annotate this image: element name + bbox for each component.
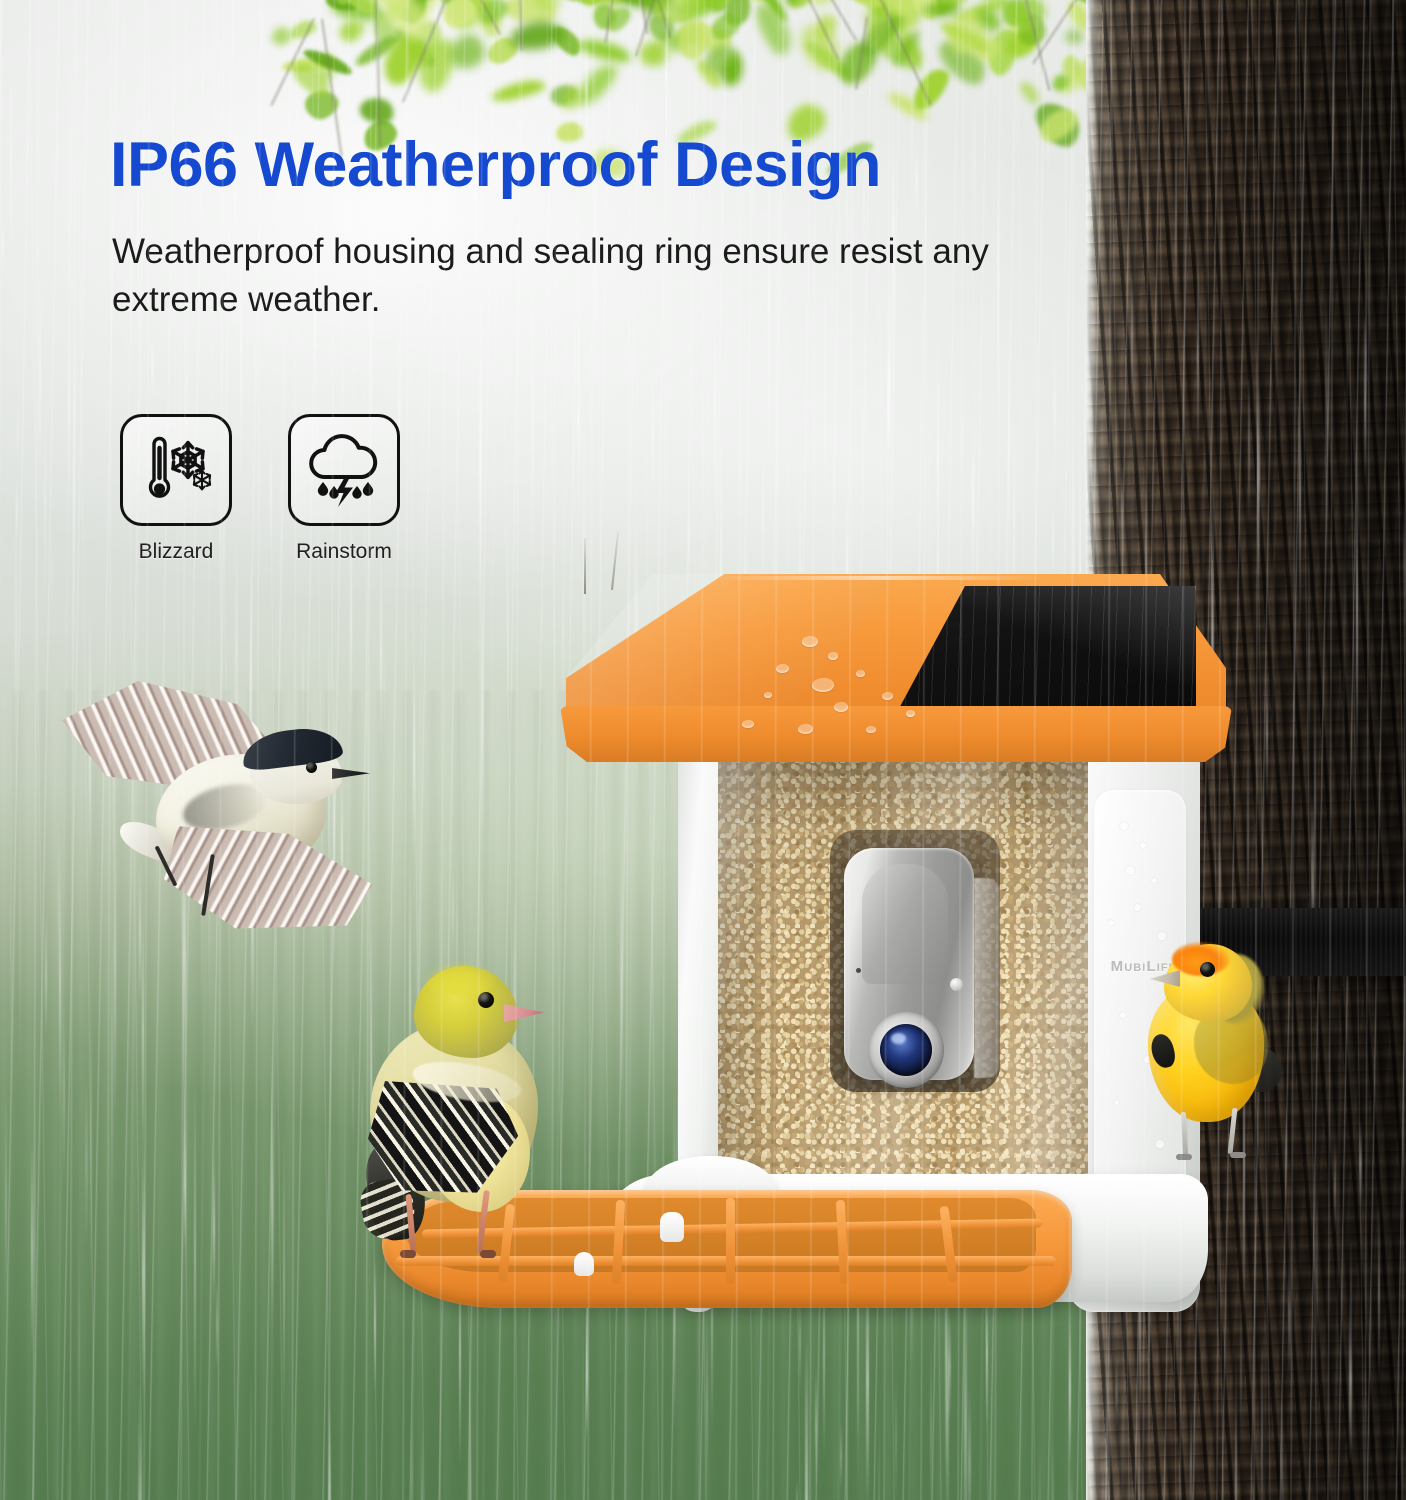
rain-streak xyxy=(17,402,19,469)
nuthatch-beak xyxy=(332,768,370,779)
rain-streak xyxy=(1308,533,1310,779)
rain-streak xyxy=(185,1033,187,1289)
page-title: IP66 Weatherproof Design xyxy=(110,132,881,198)
rain-streak xyxy=(915,146,918,217)
water-droplet xyxy=(798,724,813,734)
rain-streak xyxy=(1299,345,1301,646)
water-droplet xyxy=(828,652,838,660)
leaf xyxy=(509,20,565,51)
rain-streak xyxy=(796,1478,798,1500)
rain-streak xyxy=(706,1309,708,1500)
water-droplet xyxy=(742,720,754,728)
rain-streak xyxy=(652,373,654,497)
rain-streak xyxy=(1008,330,1010,566)
rain-streak xyxy=(1356,434,1358,780)
rain-streak xyxy=(1266,665,1268,804)
leaf xyxy=(751,0,796,59)
camera-sensor-icon xyxy=(950,978,963,991)
water-droplet xyxy=(866,726,876,733)
rain-streak xyxy=(1248,367,1250,524)
page-subtitle: Weatherproof housing and sealing ring en… xyxy=(112,228,1072,323)
camera-side-reflection xyxy=(974,878,1000,1078)
water-droplet xyxy=(856,670,865,677)
rain-streak xyxy=(961,408,964,486)
rain-streak xyxy=(19,758,21,1081)
rain-streak xyxy=(1038,1435,1041,1500)
rain-streak xyxy=(1288,1248,1291,1379)
rain-streak xyxy=(1314,661,1316,938)
rain-streak xyxy=(68,302,70,508)
rain-streak xyxy=(930,1345,932,1500)
rain-streak xyxy=(1047,104,1049,178)
canary-eye xyxy=(1200,962,1215,977)
water-droplet xyxy=(812,678,834,692)
thermometer-snowflake-icon xyxy=(136,430,216,510)
feature-badge-blizzard: Blizzard xyxy=(120,414,232,564)
rain-streak xyxy=(1325,273,1328,570)
goldfinch-yellow-crown xyxy=(424,962,496,996)
rain-streak xyxy=(582,1290,584,1500)
rain-streak xyxy=(328,1398,331,1500)
leaf xyxy=(1017,79,1042,108)
rain-streak xyxy=(63,1002,65,1184)
rain-streak xyxy=(1261,1340,1263,1500)
badge-frame-rainstorm xyxy=(288,414,400,526)
canary-foot xyxy=(1230,1152,1246,1158)
rain-streak xyxy=(374,1254,376,1394)
rain-streak xyxy=(140,1427,142,1500)
rain-streak xyxy=(51,525,53,621)
rain-streak xyxy=(57,815,59,992)
rain-streak xyxy=(887,352,890,452)
camera-visor xyxy=(862,864,948,984)
rain-streak xyxy=(469,1352,471,1500)
rain-streak xyxy=(67,1422,69,1500)
rain-streak xyxy=(1053,313,1056,500)
rain-streak xyxy=(1138,1385,1140,1500)
rain-streak xyxy=(85,1075,88,1249)
water-droplet xyxy=(834,702,848,712)
rain-streak xyxy=(651,1491,653,1500)
water-droplet xyxy=(906,710,915,717)
water-droplet xyxy=(1108,920,1114,926)
rain-streak xyxy=(1334,1138,1336,1232)
rain-streak xyxy=(1240,1292,1242,1448)
goldfinch-foot xyxy=(480,1250,496,1258)
camera-lens-icon xyxy=(880,1024,932,1076)
rain-streak xyxy=(1315,1119,1318,1448)
feeder-roof xyxy=(566,574,1226,774)
rain-streak xyxy=(1131,269,1133,407)
rain-streak xyxy=(577,387,579,453)
water-droplet xyxy=(776,664,789,673)
rain-streak xyxy=(1257,381,1260,578)
rain-streak xyxy=(213,1153,215,1302)
rain-streak xyxy=(1235,1353,1237,1500)
rain-streak xyxy=(90,993,92,1300)
roof-eave xyxy=(560,706,1232,762)
roof-ridge-highlight xyxy=(716,576,1046,580)
rain-streak xyxy=(15,475,17,805)
water-droplet xyxy=(1120,822,1128,830)
rain-streak xyxy=(10,804,12,1115)
rain-streak xyxy=(1364,314,1366,485)
rain-streak xyxy=(725,316,727,386)
bird-american-goldfinch xyxy=(352,944,582,1264)
rain-streak xyxy=(421,1425,423,1500)
feature-badge-rainstorm: Rainstorm xyxy=(288,414,400,564)
feature-badge-label-blizzard: Blizzard xyxy=(139,540,214,564)
water-droplet xyxy=(1140,842,1146,848)
water-droplet xyxy=(1134,904,1141,911)
rain-streak xyxy=(34,1079,36,1406)
rain-streak xyxy=(1153,1486,1155,1500)
rain-streak xyxy=(1281,1393,1283,1500)
rain-streak xyxy=(5,1091,7,1318)
rain-streak xyxy=(142,1141,145,1402)
water-droplet xyxy=(882,692,893,700)
nuthatch-eye xyxy=(306,762,317,773)
rain-streak xyxy=(151,333,154,400)
canary-foot xyxy=(1176,1154,1192,1160)
lightning-bolt-shape xyxy=(336,475,354,507)
tray-center-nub xyxy=(660,1212,684,1242)
rain-streak xyxy=(973,78,976,250)
cloud-rain-lightning-icon xyxy=(303,431,385,509)
rain-streak xyxy=(111,889,113,1235)
rain-streak xyxy=(1069,1312,1071,1465)
rain-streak xyxy=(1115,1355,1118,1434)
rain-streak xyxy=(45,914,47,1036)
water-droplet xyxy=(1120,1012,1126,1018)
product-marketing-image: IP66 Weatherproof Design Weatherproof ho… xyxy=(0,0,1406,1500)
camera-microphone-icon xyxy=(856,968,861,973)
rain-streak xyxy=(968,1385,971,1500)
leaf xyxy=(272,27,291,45)
rain-streak xyxy=(805,1331,808,1500)
nuthatch-lower-wing xyxy=(159,821,381,947)
rain-streak xyxy=(1052,1439,1054,1500)
rain-streak xyxy=(10,54,12,261)
rain-streak xyxy=(714,290,716,525)
rain-streak xyxy=(1378,1200,1380,1387)
rain-streak xyxy=(216,1280,218,1370)
rain-streak xyxy=(31,1139,33,1354)
water-droplet xyxy=(1126,866,1135,875)
rain-streak xyxy=(39,266,41,481)
rain-streak xyxy=(840,1421,842,1490)
goldfinch-foot xyxy=(400,1250,416,1258)
rain-streak xyxy=(272,1109,274,1309)
leaf xyxy=(490,77,547,104)
water-droplet xyxy=(1152,878,1157,883)
rain-streak xyxy=(283,1133,285,1432)
badge-frame-blizzard xyxy=(120,414,232,526)
rain-streak xyxy=(142,902,144,1163)
goldfinch-eye xyxy=(478,992,494,1008)
water-droplet xyxy=(1114,1100,1119,1105)
leaf xyxy=(447,33,487,71)
rain-streak xyxy=(1175,103,1177,321)
rain-streak xyxy=(1349,1292,1352,1464)
rain-streak xyxy=(878,1403,880,1500)
water-droplet xyxy=(764,692,772,698)
rain-streak xyxy=(73,325,75,678)
rain-streak xyxy=(1084,294,1086,577)
rain-streak xyxy=(815,1366,817,1488)
rain-streak xyxy=(1070,1475,1073,1500)
feature-badge-group: Blizzard xyxy=(120,414,400,564)
rain-streak xyxy=(411,1418,413,1500)
rain-streak xyxy=(2,213,4,277)
rain-streak xyxy=(971,455,974,526)
rain-streak xyxy=(250,1364,252,1500)
rain-streak xyxy=(665,2,667,119)
rain-streak xyxy=(44,398,46,616)
bird-white-breasted-nuthatch xyxy=(60,676,390,936)
bird-yellow-canary xyxy=(1134,928,1294,1158)
rain-streak xyxy=(1190,1401,1192,1500)
water-droplet xyxy=(802,636,818,647)
rain-streak xyxy=(1359,1118,1362,1210)
rain-streak xyxy=(948,1313,951,1420)
rain-streak xyxy=(1108,1383,1110,1500)
